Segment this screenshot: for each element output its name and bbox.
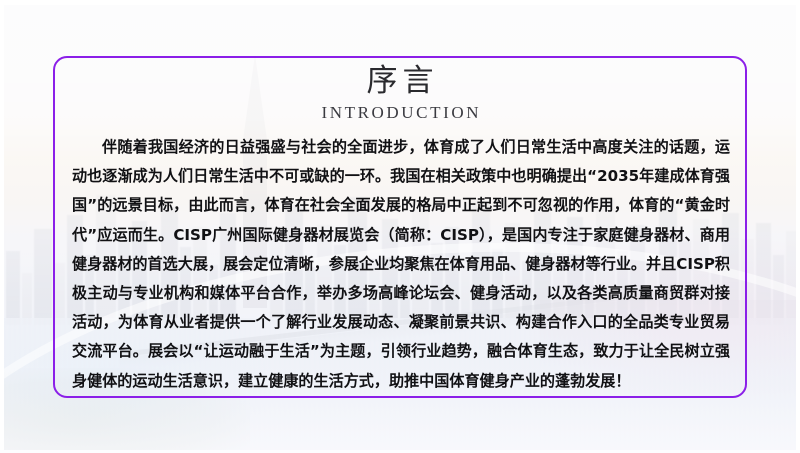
- presentation-slide: 序言 INTRODUCTION 伴随着我国经济的日益强盛与社会的全面进步，体育成…: [0, 0, 800, 453]
- slide-edge-top: [0, 0, 800, 5]
- body-block: 伴随着我国经济的日益强盛与社会的全面进步，体育成了人们日常生活中高度关注的话题，…: [72, 133, 730, 396]
- slide-edge-left: [0, 0, 4, 453]
- introduction-paragraph: 伴随着我国经济的日益强盛与社会的全面进步，体育成了人们日常生活中高度关注的话题，…: [72, 133, 730, 396]
- slide-edge-right: [796, 0, 800, 453]
